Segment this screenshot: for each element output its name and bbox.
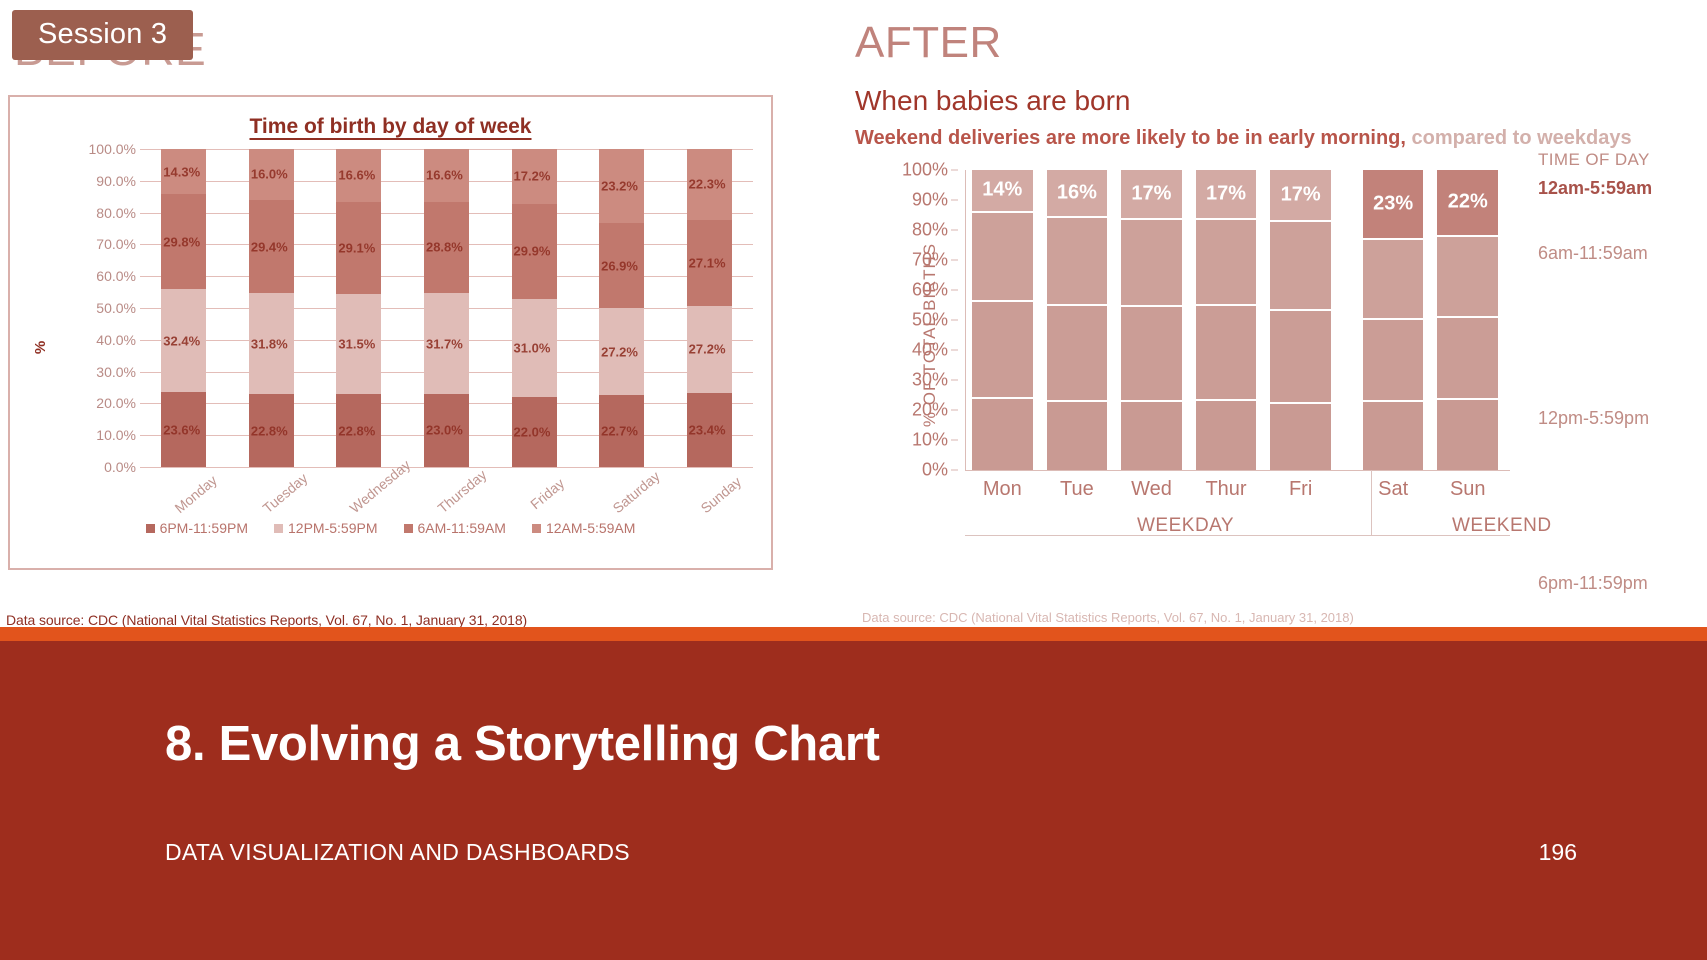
after-x-label: Wed [1121,478,1182,501]
title-banner: 8. Evolving a Storytelling Chart DATA VI… [0,641,1707,960]
after-bars: 14%16%17%17%17%23%22% [972,170,1512,470]
after-right-legend-item: 12am-5:59am [1538,178,1652,199]
after-y-tick: 100% [902,160,948,181]
before-bar-segment: 22.3% [687,149,732,220]
before-bar-segment: 22.8% [249,394,294,467]
after-tick-mark [951,410,958,411]
after-segment-label: 23% [1363,192,1424,215]
before-bar-segment: 22.7% [599,395,644,467]
legend-swatch-icon [532,524,541,533]
after-y-tick: 40% [912,340,948,361]
after-x-label: Mon [972,478,1033,501]
before-y-tick: 30.0% [96,364,136,380]
after-segment-label: 22% [1437,191,1498,214]
after-x-label: Sat [1363,478,1424,501]
before-legend-item: 6PM-11:59PM [146,520,248,536]
after-bar-segment [972,399,1033,470]
after-bar-segment: 23% [1363,170,1424,240]
before-bar-segment: 23.2% [599,149,644,223]
before-segment-label: 22.3% [689,177,726,192]
after-subtitle-strong: Weekend deliveries are more likely to be… [855,127,1406,149]
after-bar: 17% [1270,170,1331,470]
after-y-axis-line [965,170,966,470]
after-bar-segment: 16% [1047,170,1108,218]
after-tick-mark [951,440,958,441]
after-segment-label: 14% [972,179,1033,202]
after-tick-mark [951,200,958,201]
before-source: Data source: CDC (National Vital Statist… [6,612,527,628]
after-subtitle-muted: compared to weekdays [1406,127,1632,149]
before-x-label: Thursday [434,475,511,554]
before-bar-segment: 27.2% [599,308,644,394]
accent-stripe [0,627,1707,641]
before-bar-segment: 17.2% [512,149,557,204]
before-y-tick: 80.0% [96,205,136,221]
legend-swatch-icon [404,524,413,533]
before-y-tick: 100.0% [89,141,136,157]
before-segment-label: 23.2% [601,178,638,193]
before-segment-label: 14.3% [163,164,200,179]
before-bar-segment: 32.4% [161,289,206,392]
before-segment-label: 23.4% [689,422,726,437]
before-legend-item: 12AM-5:59AM [532,520,635,536]
before-y-axis-label: % [32,341,49,354]
before-legend-label: 12PM-5:59PM [288,520,377,536]
after-right-legend-title: TIME OF DAY [1538,150,1707,170]
before-bar-segment: 29.8% [161,194,206,289]
after-y-tick: 90% [912,190,948,211]
before-bar: 22.3%27.1%27.2%23.4% [687,149,732,467]
before-y-tick: 50.0% [96,300,136,316]
after-bar-segment [1121,307,1182,402]
before-bar-segment: 26.9% [599,223,644,309]
after-bar-segment [1121,220,1182,307]
before-x-label: Friday [522,475,599,554]
before-bar-segment: 22.0% [512,397,557,467]
before-segment-label: 26.9% [601,258,638,273]
legend-swatch-icon [146,524,155,533]
after-y-tick: 80% [912,220,948,241]
before-legend-item: 6AM-11:59AM [404,520,506,536]
after-source: Data source: CDC (National Vital Statist… [862,610,1354,625]
before-bar-segment: 23.4% [687,393,732,467]
after-bar: 23% [1363,170,1424,470]
after-segment-label: 17% [1196,182,1257,205]
after-bar-segment [1437,237,1498,318]
before-segment-label: 29.1% [338,241,375,256]
legend-swatch-icon [274,524,283,533]
before-bar: 17.2%29.9%31.0%22.0% [512,149,557,467]
before-segment-label: 16.6% [426,168,463,183]
before-bar-segment: 29.9% [512,204,557,299]
after-bar-segment: 22% [1437,170,1498,237]
before-segment-label: 29.9% [514,244,551,259]
after-bar-segment [1270,222,1331,312]
after-tick-mark [951,380,958,381]
after-y-tick: 10% [912,430,948,451]
before-bar-segment: 27.1% [687,220,732,306]
before-bar-segment: 16.6% [336,149,381,202]
before-segment-label: 29.8% [163,234,200,249]
after-bar-segment: 17% [1270,170,1331,222]
session-badge: Session 3 [12,10,193,60]
after-bar-segment [1196,306,1257,401]
after-bar-segment: 17% [1196,170,1257,220]
after-bar-segment [1196,401,1257,470]
before-bars: 14.3%29.8%32.4%23.6%16.0%29.4%31.8%22.8%… [140,149,753,467]
after-bar-segment [1437,318,1498,400]
before-bar-segment: 16.6% [424,149,469,202]
after-plot-area: % OF TOTAL BIRTHS 100%90%80%70%60%50%40%… [860,170,1580,590]
after-tick-mark [951,320,958,321]
before-legend-label: 12AM-5:59AM [546,520,635,536]
after-bar-segment [1047,218,1108,306]
before-plot-area: % 100.0%90.0%80.0%70.0%60.0%50.0%40.0%30… [10,149,775,519]
before-bar-segment: 29.1% [336,202,381,295]
before-segment-label: 31.8% [251,336,288,351]
before-segment-label: 31.5% [338,337,375,352]
after-bar-segment [1363,320,1424,402]
before-legend: 6PM-11:59PM12PM-5:59PM6AM-11:59AM12AM-5:… [10,520,771,536]
after-tick-mark [951,260,958,261]
before-bar: 16.0%29.4%31.8%22.8% [249,149,294,467]
before-bar-segment: 28.8% [424,202,469,294]
before-x-label: Monday [172,475,249,554]
after-y-tick: 0% [922,460,948,481]
after-x-label: Tue [1047,478,1108,501]
after-tick-mark [951,230,958,231]
after-y-ticks: 100%90%80%70%60%50%40%30%20%10%0% [878,170,958,470]
before-y-tick: 60.0% [96,268,136,284]
before-legend-label: 6AM-11:59AM [418,520,506,536]
before-segment-label: 31.7% [426,336,463,351]
before-bar-segment: 31.0% [512,299,557,397]
before-y-tick: 0.0% [104,459,136,475]
before-segment-label: 23.6% [163,422,200,437]
before-bar: 23.2%26.9%27.2%22.7% [599,149,644,467]
before-segment-label: 22.8% [251,423,288,438]
after-bar: 14% [972,170,1033,470]
before-bar: 16.6%29.1%31.5%22.8% [336,149,381,467]
after-tick-mark [951,470,958,471]
before-segment-label: 27.2% [601,344,638,359]
after-bar-segment [1196,220,1257,306]
after-segment-label: 17% [1121,182,1182,205]
after-bar-segment: 17% [1121,170,1182,220]
before-segment-label: 29.4% [251,239,288,254]
slide: BEFORE Session 3 Time of birth by day of… [0,0,1707,960]
before-segment-label: 32.4% [163,333,200,348]
after-bar-segment: 14% [972,170,1033,213]
before-bar-segment: 27.2% [687,306,732,392]
after-segment-label: 17% [1270,183,1331,206]
after-bar: 16% [1047,170,1108,470]
after-bottom-rule [965,535,1510,536]
after-bar-segment [1270,311,1331,404]
after-right-legend-item: 6am-11:59am [1538,243,1648,264]
after-y-tick: 20% [912,400,948,421]
before-segment-label: 27.1% [689,255,726,270]
after-bar-segment [1437,400,1498,470]
before-legend-label: 6PM-11:59PM [160,520,248,536]
after-tick-mark [951,350,958,351]
before-x-label: Saturday [610,475,687,554]
after-group-label: WEEKDAY [1137,515,1234,537]
after-x-labels: MonTueWedThurFriSatSun [972,478,1512,501]
slide-title: 8. Evolving a Storytelling Chart [165,716,880,772]
before-segment-label: 31.0% [514,340,551,355]
before-bar-segment: 31.5% [336,294,381,394]
before-segment-label: 27.2% [689,342,726,357]
after-chart-subtitle: Weekend deliveries are more likely to be… [855,127,1632,150]
before-bar-segment: 22.8% [336,394,381,467]
before-bar: 16.6%28.8%31.7%23.0% [424,149,469,467]
before-y-ticks: 100.0%90.0%80.0%70.0%60.0%50.0%40.0%30.0… [48,149,140,467]
before-bar-segment: 16.0% [249,149,294,200]
after-bar-segment [1047,402,1108,470]
after-bar-segment [1270,404,1331,470]
after-bar-segment [1363,240,1424,321]
after-y-tick: 50% [912,310,948,331]
after-x-label: Fri [1270,478,1331,501]
before-segment-label: 28.8% [426,240,463,255]
after-segment-label: 16% [1047,182,1108,205]
before-chart-panel: Time of birth by day of week % 100.0%90.… [8,95,773,570]
before-segment-label: 22.8% [338,423,375,438]
after-x-label: Sun [1437,478,1498,501]
before-y-tick: 10.0% [96,427,136,443]
after-x-label: Thur [1196,478,1257,501]
before-x-label: Wednesday [347,475,424,554]
before-y-tick: 20.0% [96,395,136,411]
page-number: 196 [1539,839,1577,866]
before-chart-title: Time of birth by day of week [10,115,771,139]
after-bar: 17% [1121,170,1182,470]
after-heading: AFTER [855,18,1002,68]
after-y-tick: 70% [912,250,948,271]
after-right-legend: TIME OF DAY 12am-5:59am6am-11:59am12pm-5… [1538,150,1707,170]
before-segment-label: 22.0% [514,425,551,440]
after-bar-segment [1363,402,1424,470]
before-gridline [140,467,753,468]
before-bar: 14.3%29.8%32.4%23.6% [161,149,206,467]
after-bar-segment [972,213,1033,302]
after-y-tick: 60% [912,280,948,301]
after-bar: 17% [1196,170,1257,470]
before-segment-label: 17.2% [514,169,551,184]
after-right-legend-item: 6pm-11:59pm [1538,573,1648,594]
after-chart-title: When babies are born [855,85,1131,117]
before-segment-label: 16.6% [338,168,375,183]
after-tick-mark [951,170,958,171]
after-bar-segment [1047,306,1108,401]
before-bar-segment: 31.8% [249,293,294,394]
before-bar-segment: 23.0% [424,394,469,467]
after-bar-segment [972,302,1033,399]
before-bar-segment: 23.6% [161,392,206,467]
before-x-label: Sunday [697,475,774,554]
before-legend-item: 12PM-5:59PM [274,520,377,536]
after-bar: 22% [1437,170,1498,470]
before-y-tick: 40.0% [96,332,136,348]
after-right-legend-item: 12pm-5:59pm [1538,408,1649,429]
before-y-tick: 90.0% [96,173,136,189]
before-segment-label: 23.0% [426,423,463,438]
before-bar-segment: 14.3% [161,149,206,194]
before-segment-label: 16.0% [251,167,288,182]
footer-text: DATA VISUALIZATION AND DASHBOARDS [165,839,630,866]
after-bar-segment [1121,402,1182,470]
after-group-label: WEEKEND [1452,515,1552,537]
before-bar-segment: 29.4% [249,200,294,293]
before-y-tick: 70.0% [96,236,136,252]
after-tick-mark [951,290,958,291]
after-y-tick: 30% [912,370,948,391]
before-bar-segment: 31.7% [424,293,469,394]
before-segment-label: 22.7% [601,423,638,438]
after-baseline [965,470,1510,471]
before-x-label: Tuesday [259,475,336,554]
